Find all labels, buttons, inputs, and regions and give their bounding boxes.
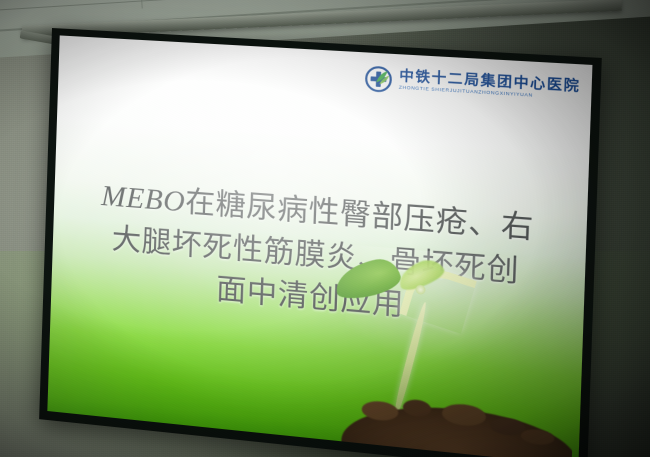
scene-vignette: [0, 0, 650, 457]
projection-room-photo: 中铁十二局集团中心医院 ZHONGTIE SHIERJUJITUANZHONGX…: [0, 0, 650, 457]
